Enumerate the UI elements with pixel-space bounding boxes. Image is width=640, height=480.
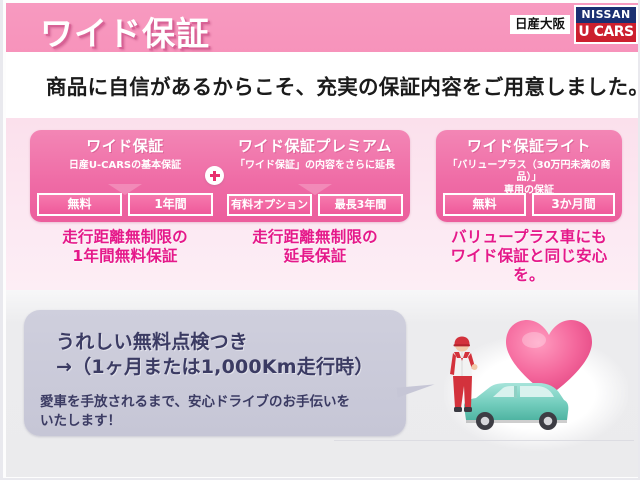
plan-caption: バリュープラス車にも ワイド保証と同じ安心を。 — [436, 228, 622, 285]
staff-person-icon — [446, 336, 480, 416]
nissan-ucars-logo: NISSAN U CARS — [574, 5, 638, 44]
plan-badges: 無料 3か月間 — [443, 193, 615, 216]
plan-title: ワイド保証ライト — [444, 139, 614, 155]
plan-card-wide: ワイド保証 日産U-CARSの基本保証 無料 1年間 — [30, 130, 220, 222]
plus-icon — [205, 166, 224, 185]
ucars-logo-text: U CARS — [576, 23, 636, 42]
plan-subtitle: 「バリュープラス（30万円未満の商品）」 専用の保証 — [444, 160, 614, 198]
badge-duration: 1年間 — [128, 193, 213, 216]
plan-title: ワイド保証 — [38, 139, 212, 155]
plan-caption: 走行距離無制限の 1年間無料保証 — [30, 228, 220, 266]
bubble-body-text: 愛車を手放されるまで、安心ドライブのお手伝いを いたします！ — [40, 393, 390, 430]
plan-title: ワイド保証プレミアム — [228, 139, 402, 155]
plan-card-group-light: ワイド保証ライト 「バリュープラス（30万円未満の商品）」 専用の保証 無料 3… — [436, 130, 622, 222]
dealer-name: 日産大阪 — [510, 15, 570, 35]
plan-cards: ワイド保証 日産U-CARSの基本保証 無料 1年間 ワイド保証プレミアム 「ワ… — [6, 130, 640, 222]
badge-duration: 3か月間 — [532, 193, 615, 216]
plans-section: ワイド保証 日産U-CARSの基本保証 無料 1年間 ワイド保証プレミアム 「ワ… — [6, 118, 640, 290]
badge-duration: 最長3年間 — [318, 194, 403, 216]
illustration — [436, 298, 636, 470]
badge-price: 有料オプション — [227, 194, 312, 216]
speech-bubble-tail — [397, 384, 438, 419]
nissan-logo-text: NISSAN — [576, 7, 636, 23]
brand-block: 日産大阪 NISSAN U CARS — [510, 5, 638, 44]
bubble-headline: うれしい無料点検つき →（1ヶ月または1,000Km走行時） — [56, 330, 374, 380]
advertisement-frame: ワイド保証 日産大阪 NISSAN U CARS 商品に自信があるからこそ、充実… — [0, 0, 640, 480]
free-inspection-section: うれしい無料点検つき →（1ヶ月または1,000Km走行時） 愛車を手放されるま… — [6, 290, 640, 477]
page-header: ワイド保証 日産大阪 NISSAN U CARS — [6, 3, 640, 52]
divider — [334, 440, 634, 441]
plan-card-premium: ワイド保証プレミアム 「ワイド保証」の内容をさらに延長 有料オプション 最長3年… — [220, 130, 410, 222]
tagline-band: 商品に自信があるからこそ、充実の保証内容をご用意しました。 — [6, 52, 640, 118]
headline-text: 商品に自信があるからこそ、充実の保証内容をご用意しました。 — [46, 70, 640, 100]
plan-card-light: ワイド保証ライト 「バリュープラス（30万円未満の商品）」 専用の保証 無料 3… — [436, 130, 622, 222]
plan-caption: 走行距離無制限の 延長保証 — [220, 228, 410, 266]
plan-subtitle: 日産U-CARSの基本保証 — [38, 160, 212, 173]
plan-badges: 有料オプション 最長3年間 — [227, 194, 403, 216]
plan-badges: 無料 1年間 — [37, 193, 213, 216]
plan-subtitle: 「ワイド保証」の内容をさらに延長 — [228, 160, 402, 173]
speech-bubble: うれしい無料点検つき →（1ヶ月または1,000Km走行時） 愛車を手放されるま… — [24, 310, 406, 436]
badge-price: 無料 — [443, 193, 526, 216]
badge-price: 無料 — [37, 193, 122, 216]
page-title: ワイド保証 — [40, 7, 210, 55]
plan-captions: 走行距離無制限の 1年間無料保証 走行距離無制限の 延長保証 バリュープラス車に… — [6, 228, 640, 286]
